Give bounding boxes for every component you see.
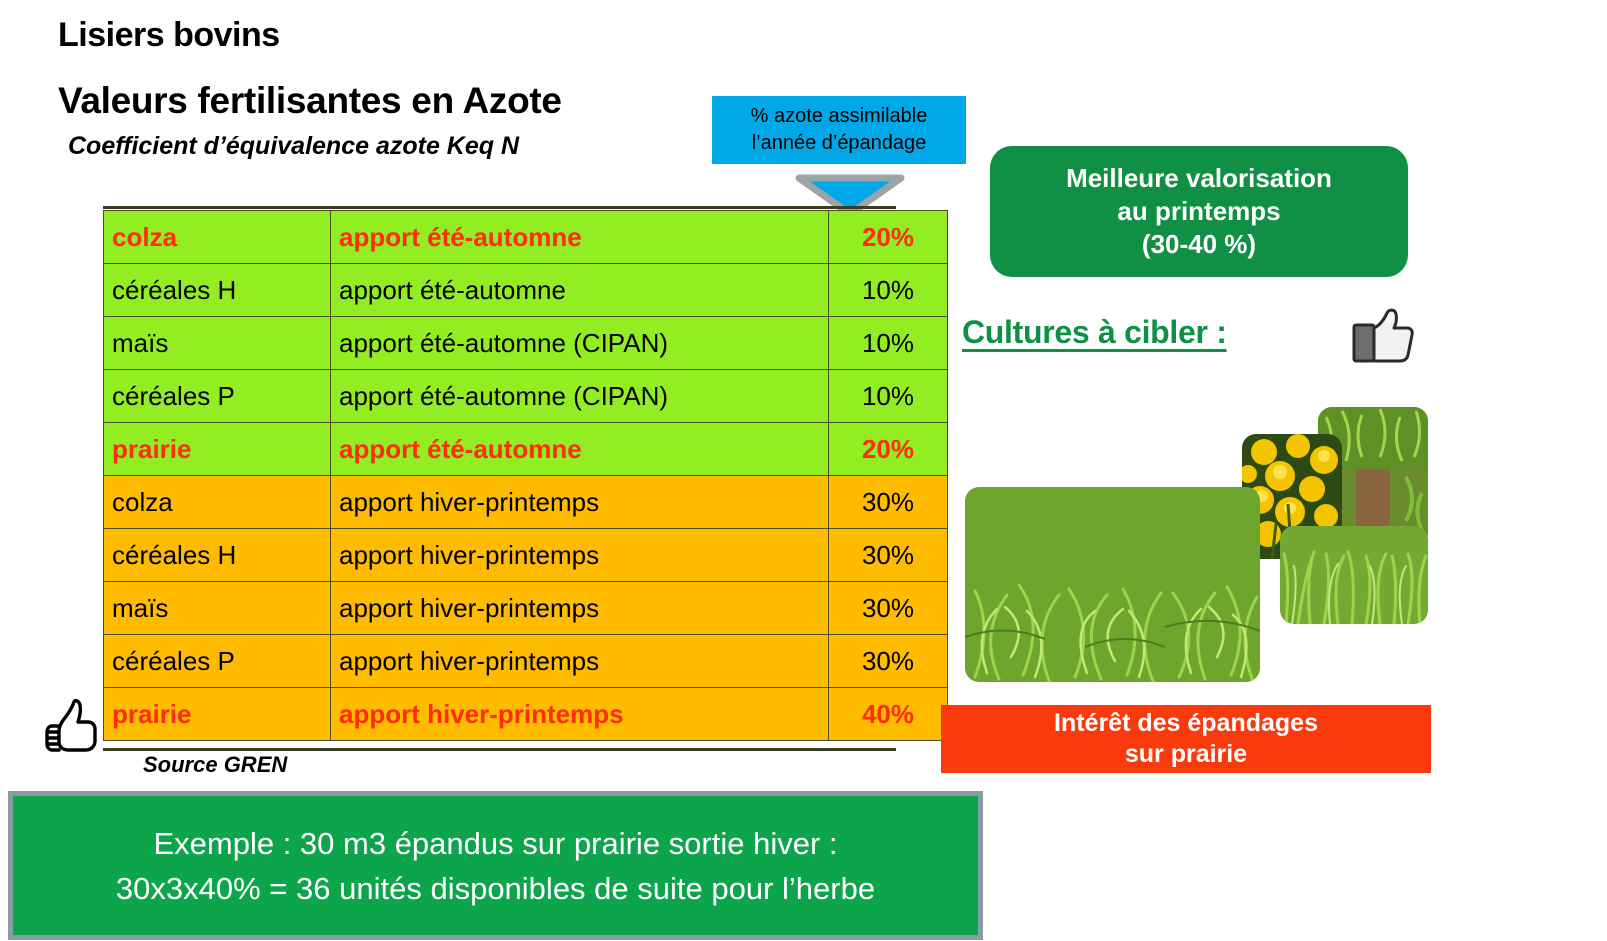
example-line-1: Exemple : 30 m3 épandus sur prairie sort… [153,821,837,866]
table-row: maïsapport été-automne (CIPAN)10% [104,317,948,370]
table-cell-valeur: 30% [829,529,948,582]
table-cell-apport: apport hiver-printemps [331,635,829,688]
table-bottom-border [103,748,896,751]
meilleure-valorisation-box: Meilleure valorisation au printemps (30-… [990,146,1408,277]
table-cell-apport: apport hiver-printemps [331,688,829,741]
table-source: Source GREN [143,752,287,778]
table-cell-apport: apport été-automne [331,423,829,476]
table-row: prairieapport été-automne20% [104,423,948,476]
green-box-line-1: Meilleure valorisation [1066,162,1332,195]
table-cell-culture: prairie [104,423,331,476]
table-cell-valeur: 10% [829,370,948,423]
table-cell-apport: apport hiver-printemps [331,582,829,635]
table-cell-culture: céréales H [104,264,331,317]
table-cell-apport: apport hiver-printemps [331,529,829,582]
interet-epandages-box: Intérêt des épandages sur prairie [941,705,1431,773]
table-cell-valeur: 10% [829,317,948,370]
table-row: céréales Papport été-automne (CIPAN)10% [104,370,948,423]
table-cell-apport: apport été-automne (CIPAN) [331,317,829,370]
table-cell-culture: prairie [104,688,331,741]
table-row: céréales Happort été-automne10% [104,264,948,317]
fertilizer-values-table: colzaapport été-automne20%céréales Happo… [103,210,948,741]
cultures-a-cibler-label: Cultures à cibler : [962,314,1227,351]
prairie-grass-photo [965,487,1260,682]
table-cell-valeur: 30% [829,476,948,529]
table-cell-culture: maïs [104,582,331,635]
table-cell-valeur: 40% [829,688,948,741]
example-box: Exemple : 30 m3 épandus sur prairie sort… [8,791,983,940]
cereal-wheat-photo [1280,526,1428,624]
table-cell-culture: colza [104,476,331,529]
page-title: Lisiers bovins [58,16,280,55]
page-subtitle-2: Coefficient d’équivalence azote Keq N [68,132,519,161]
table-cell-apport: apport été-automne (CIPAN) [331,370,829,423]
table-cell-apport: apport été-automne [331,264,829,317]
table-cell-culture: maïs [104,317,331,370]
table-cell-apport: apport été-automne [331,211,829,264]
table-row: colzaapport été-automne20% [104,211,948,264]
table-row: colzaapport hiver-printemps30% [104,476,948,529]
table-cell-valeur: 20% [829,423,948,476]
example-line-2: 30x3x40% = 36 unités disponibles de suit… [116,866,875,911]
table-cell-valeur: 10% [829,264,948,317]
table-row: prairieapport hiver-printemps40% [104,688,948,741]
blue-callout-line-1: % azote assimilable [751,103,928,130]
red-box-line-2: sur prairie [1125,739,1247,770]
table-cell-culture: colza [104,211,331,264]
green-box-line-3: (30-40 %) [1142,228,1256,261]
table-row: céréales Happort hiver-printemps30% [104,529,948,582]
red-box-line-1: Intérêt des épandages [1054,708,1318,739]
page-subtitle: Valeurs fertilisantes en Azote [58,80,562,122]
thumbs-up-like-icon [1352,308,1414,366]
table-row: céréales Papport hiver-printemps30% [104,635,948,688]
table-cell-culture: céréales P [104,635,331,688]
table-cell-culture: céréales H [104,529,331,582]
table-cell-valeur: 20% [829,211,948,264]
thumbs-up-outline-icon [44,694,102,756]
table-row: maïsapport hiver-printemps30% [104,582,948,635]
table-cell-apport: apport hiver-printemps [331,476,829,529]
blue-callout-line-2: l’année d’épandage [752,130,927,157]
table-cell-culture: céréales P [104,370,331,423]
table-cell-valeur: 30% [829,635,948,688]
green-box-line-2: au printemps [1117,195,1280,228]
table-top-border [103,206,896,209]
table-cell-valeur: 30% [829,582,948,635]
blue-callout-box: % azote assimilable l’année d’épandage [712,96,966,164]
